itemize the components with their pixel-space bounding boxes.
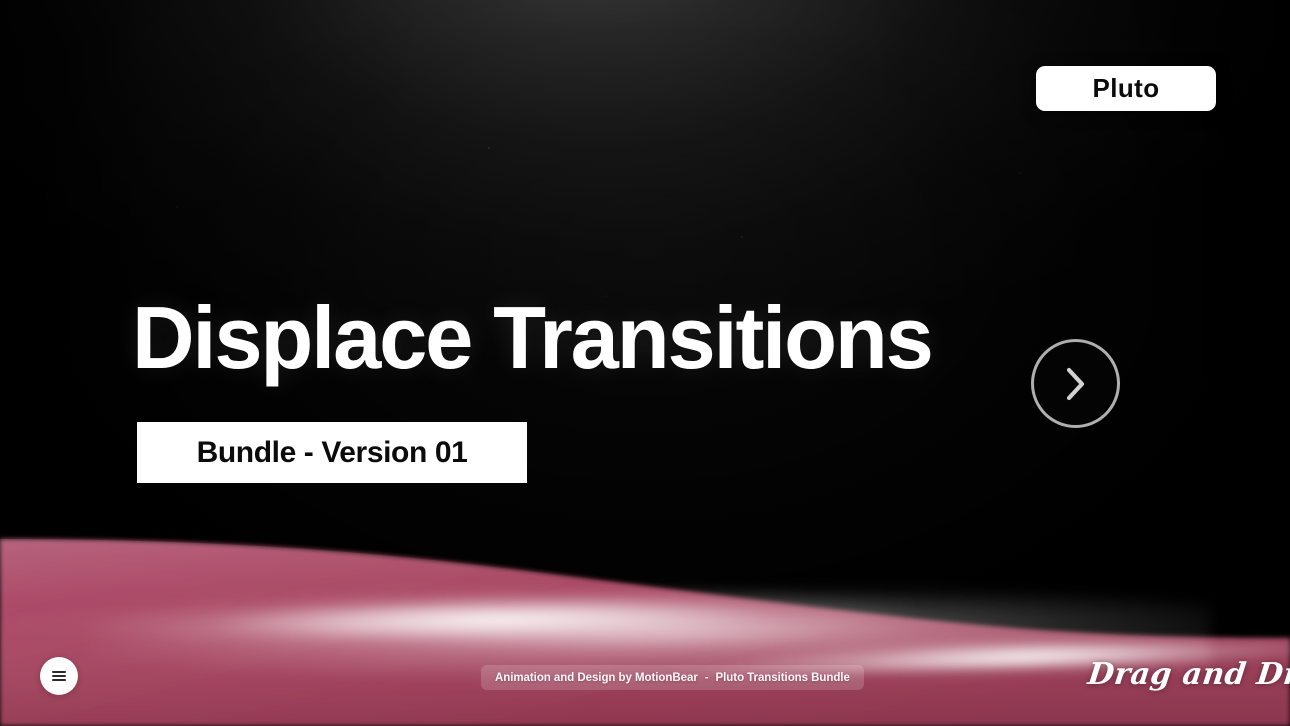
slide-canvas: Pluto Displace Transitions Bundle - Vers… [0, 0, 1290, 726]
pluto-brand-chip[interactable]: Pluto [1036, 66, 1216, 111]
version-badge-label: Bundle - Version 01 [197, 436, 468, 470]
credits-secondary-label: Pluto Transitions Bundle [716, 672, 850, 684]
drag-and-drop-label: Drag and Drop [1086, 657, 1290, 692]
next-slide-button[interactable] [1031, 339, 1120, 428]
pink-wave-shape [0, 526, 1290, 726]
page-title: Displace Transitions [132, 296, 932, 380]
credits-separator: - [698, 672, 716, 684]
credits-pill: Animation and Design by MotionBear - Plu… [481, 665, 864, 690]
credits-primary-label: Animation and Design by MotionBear [495, 672, 698, 684]
pluto-brand-label: Pluto [1093, 73, 1160, 104]
hamburger-menu-icon [52, 671, 66, 681]
menu-button[interactable] [40, 657, 78, 695]
version-badge: Bundle - Version 01 [137, 422, 527, 483]
chevron-right-icon [1065, 367, 1087, 401]
